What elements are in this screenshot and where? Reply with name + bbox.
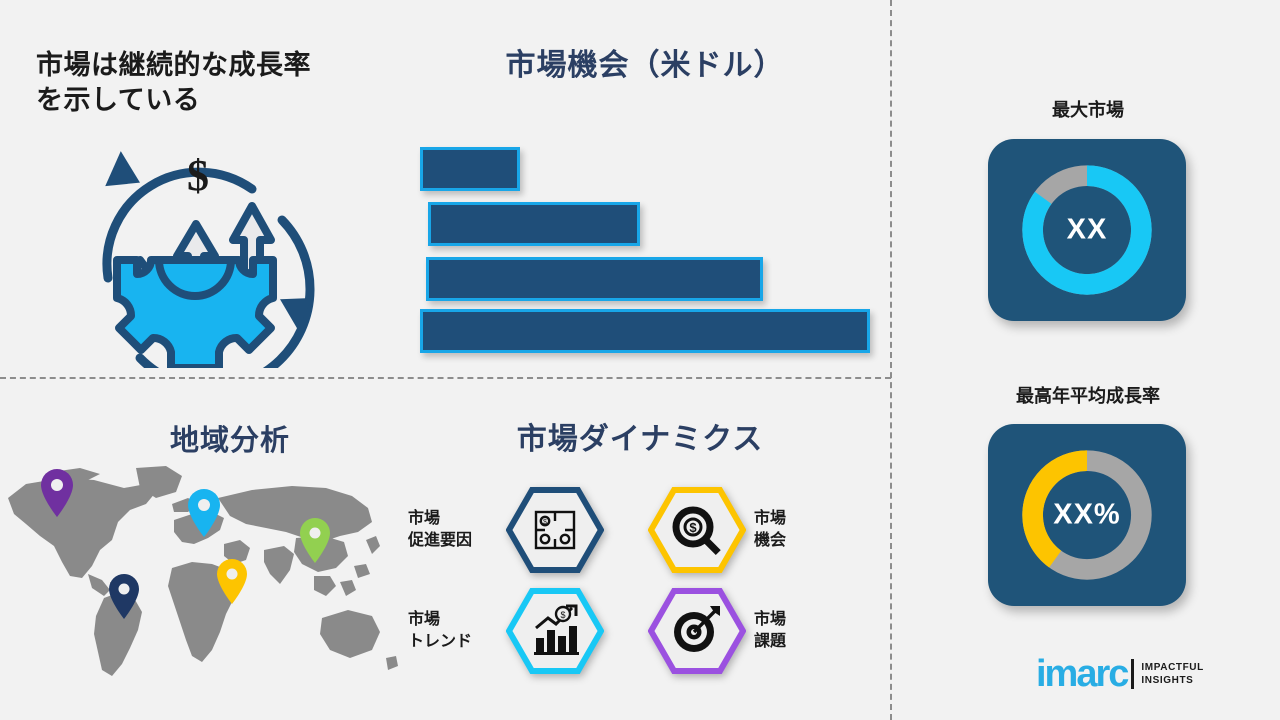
logo-separator (1131, 659, 1134, 689)
dynamics-item-label: 市場 課題 (754, 609, 846, 652)
bar-row (420, 309, 870, 353)
horizontal-divider (0, 377, 891, 379)
dynamics-item-opportunities[interactable]: $ 市場 機会 (648, 487, 846, 573)
donut-title-largest-market: 最大市場 (958, 96, 1218, 122)
dynamics-item-drivers[interactable]: 市場 促進要因 $ (408, 487, 604, 573)
pin-east-asia (300, 518, 330, 563)
hexagon-drivers: $ (506, 487, 604, 573)
dollar-symbol: $ (187, 151, 209, 200)
donut-card-largest-market: XX (988, 139, 1186, 321)
dynamics-item-label: 市場 促進要因 (408, 508, 500, 551)
bar-row (428, 202, 640, 246)
hexagon-opportunities: $ (648, 487, 746, 573)
infographic-slide: 市場は継続的な成長率 を示している (0, 0, 1280, 720)
donut-title-highest-cagr: 最高年平均成長率 (958, 382, 1218, 408)
dynamics-item-trends[interactable]: 市場 トレンド $ (408, 588, 604, 674)
pin-north-america (41, 469, 73, 517)
market-opportunity-bar-chart (418, 145, 878, 350)
dynamics-item-label: 市場 機会 (754, 508, 846, 551)
svg-text:$: $ (560, 610, 565, 620)
logo-wordmark: imarc (1036, 655, 1127, 693)
pin-south-america (109, 574, 139, 619)
pin-middle-east (217, 559, 247, 604)
growth-panel-title: 市場は継続的な成長率 を示している (36, 48, 381, 117)
growth-cycle-gear-icon: $ (70, 128, 320, 368)
svg-text:$: $ (543, 519, 547, 526)
regional-panel-title: 地域分析 (80, 424, 380, 459)
donut-card-highest-cagr: XX% (988, 424, 1186, 606)
pin-europe (188, 489, 220, 537)
dynamics-item-label: 市場 トレンド (408, 609, 500, 652)
dynamics-panel-title: 市場ダイナミクス (410, 422, 870, 458)
hexagon-challenges (648, 588, 746, 674)
imarc-logo: imarc IMPACTFUL INSIGHTS (1036, 655, 1204, 693)
svg-text:$: $ (689, 520, 697, 535)
bar-row (420, 147, 520, 191)
opportunity-panel-title: 市場機会（米ドル） (410, 48, 880, 84)
dynamics-item-challenges[interactable]: 市場 課題 (648, 588, 846, 674)
hexagon-trends: $ (506, 588, 604, 674)
bar-row (426, 257, 763, 301)
logo-tagline: IMPACTFUL INSIGHTS (1141, 661, 1203, 688)
vertical-divider (890, 0, 892, 720)
